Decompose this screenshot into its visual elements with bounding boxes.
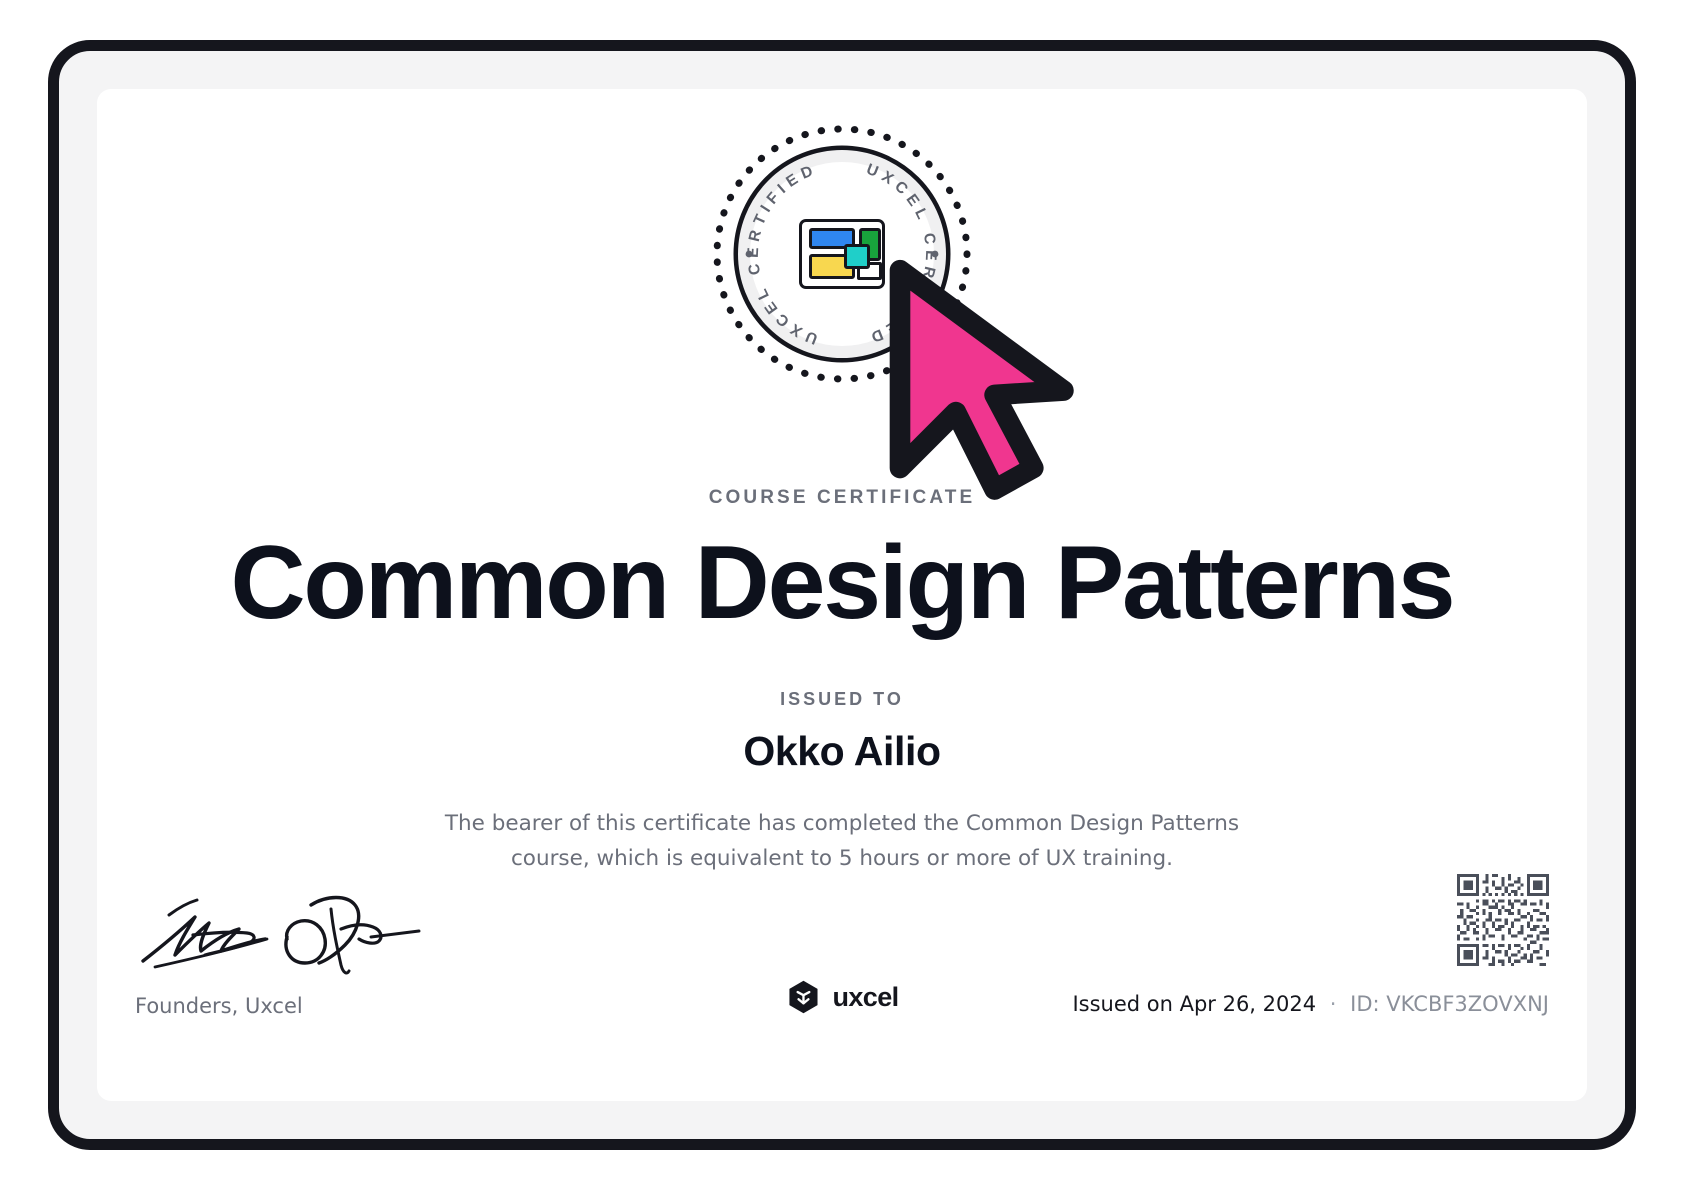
design-patterns-window-icon (799, 219, 885, 289)
cursor-pointer-icon (857, 253, 1115, 511)
certification-seal: UXCEL CERTIFIED UXCEL CERTIFIED (97, 125, 1587, 383)
founder-signatures-icon (135, 889, 435, 977)
recipient-name: Okko Ailio (97, 728, 1587, 775)
verification-qr-code[interactable] (1457, 874, 1549, 966)
certificate-body: UXCEL CERTIFIED UXCEL CERTIFIED (97, 89, 1587, 1101)
course-title: Common Design Patterns (97, 522, 1587, 645)
signatures (135, 889, 465, 979)
issued-to-label: ISSUED TO (97, 689, 1587, 710)
uxcel-brand: uxcel (785, 979, 898, 1015)
certificate-id: ID: VKCBF3ZOVXNJ (1350, 992, 1549, 1016)
certificate-kicker: COURSE CERTIFICATE (97, 487, 1587, 509)
seal-separator-dot-left (746, 251, 753, 258)
certificate-description: The bearer of this certificate has compl… (427, 807, 1257, 877)
issued-on-date: Issued on Apr 26, 2024 (1072, 992, 1316, 1016)
meta-separator: · (1323, 992, 1344, 1016)
uxcel-hexagon-logo-icon (785, 979, 821, 1015)
certificate-page: UXCEL CERTIFIED UXCEL CERTIFIED (0, 0, 1684, 1190)
certificate-meta: Issued on Apr 26, 2024 · ID: VKCBF3ZOVXN… (1072, 992, 1549, 1016)
qr-code-icon[interactable] (1457, 874, 1549, 966)
signature-caption: Founders, Uxcel (135, 994, 303, 1018)
uxcel-wordmark: uxcel (832, 982, 898, 1013)
certificate-frame: UXCEL CERTIFIED UXCEL CERTIFIED (48, 40, 1636, 1150)
